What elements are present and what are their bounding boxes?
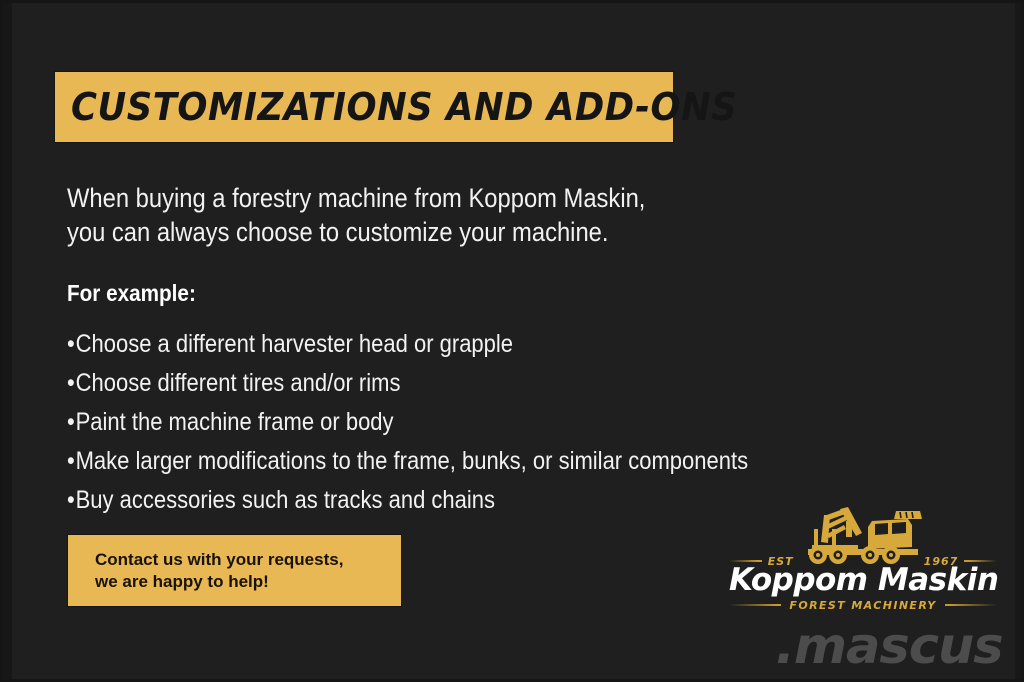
logo-tagline-row: FOREST MACHINERY [729,598,997,612]
contact-cta-box[interactable]: Contact us with your requests, we are ha… [68,535,401,606]
intro-line-2: you can always choose to customize your … [67,215,683,249]
bullet-marker-icon: • [67,325,75,364]
slide-canvas: CUSTOMIZATIONS AND ADD-ONS When buying a… [0,0,1024,682]
bullet-marker-icon: • [67,403,75,442]
title-banner: CUSTOMIZATIONS AND ADD-ONS [55,72,673,142]
list-item-label: Paint the machine frame or body [76,408,394,436]
list-item-label: Make larger modifications to the frame, … [76,447,749,475]
list-item-label: Choose a different harvester head or gra… [76,330,513,358]
intro-line-1: When buying a forestry machine from Kopp… [67,181,683,215]
bullet-marker-icon: • [67,481,75,520]
list-item: •Choose a different harvester head or gr… [67,325,762,364]
page-title: CUSTOMIZATIONS AND ADD-ONS [71,88,737,126]
list-item: •Make larger modifications to the frame,… [67,442,762,481]
logo-tagline-rule-left [729,604,781,606]
list-item: •Buy accessories such as tracks and chai… [67,481,762,520]
logo-tagline: FOREST MACHINERY [781,599,944,612]
cta-line-2: we are happy to help! [95,571,401,593]
intro-paragraph: When buying a forestry machine from Kopp… [67,181,683,249]
list-item-label: Buy accessories such as tracks and chain… [76,486,495,514]
left-edge-shade [3,3,12,679]
cta-line-1: Contact us with your requests, [95,549,401,571]
logo-tagline-rule-right [945,604,997,606]
list-item-label: Choose different tires and/or rims [76,369,401,397]
list-item: •Choose different tires and/or rims [67,364,762,403]
customization-options-list: •Choose a different harvester head or gr… [67,325,762,520]
mascus-watermark: .mascus [776,621,1003,671]
logo-wordmark: Koppom Maskin [729,563,997,597]
list-item: •Paint the machine frame or body [67,403,762,442]
for-example-label: For example: [67,279,196,307]
right-edge-shade [1015,3,1021,679]
bullet-marker-icon: • [67,442,75,481]
bullet-marker-icon: • [67,364,75,403]
koppom-maskin-logo: EST 1967 Koppom Maskin FOREST MACHINERY [729,503,997,611]
